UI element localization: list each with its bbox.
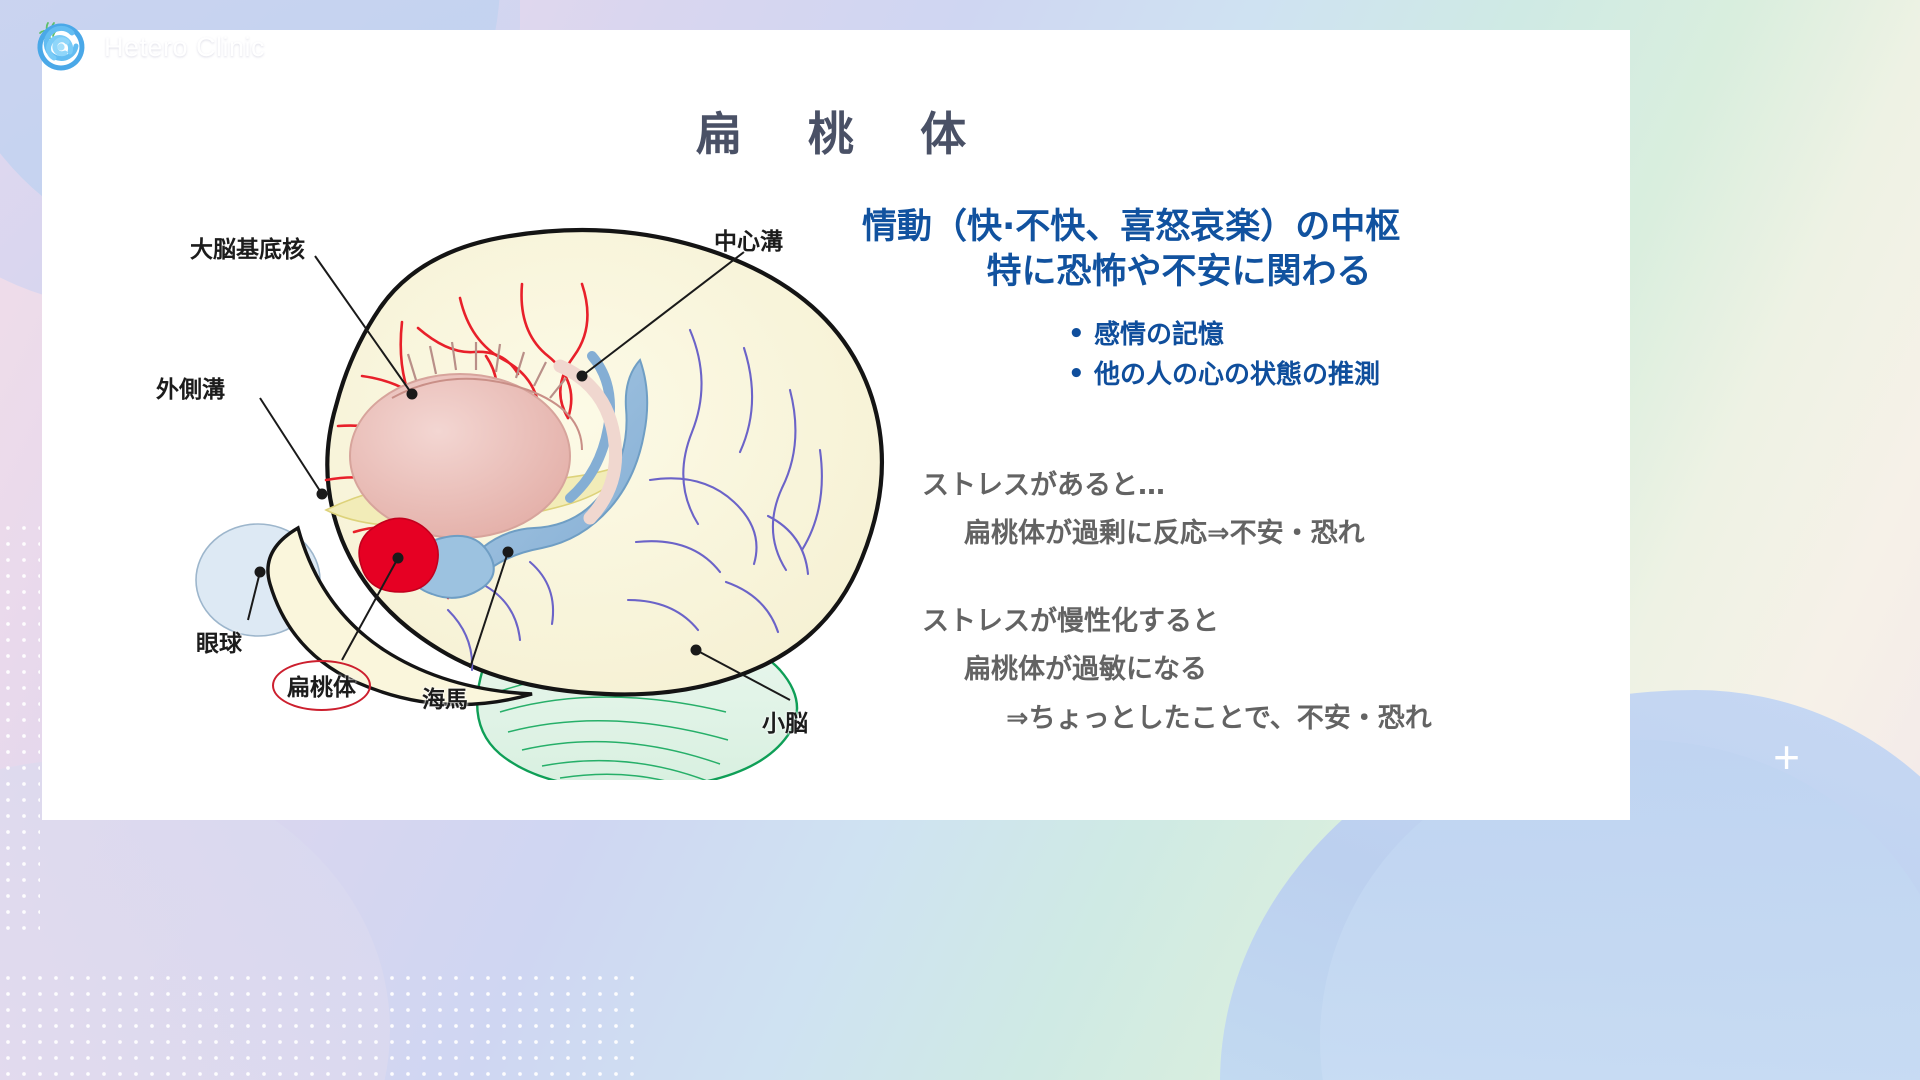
heading-line-2: 特に恐怖や不安に関わる [862,250,1582,295]
diagram-label-hippocampus: 海馬 [422,680,468,714]
spiral-leaf-logo-icon [34,20,88,74]
brand-name: Hetero Clinic [104,32,265,63]
slide-card: 扁 桃 体 [42,30,1630,820]
list-item: 感情の記憶 [1068,315,1582,355]
bottom-dot-pattern [0,970,640,1080]
diagram-label-amygdala: 扁桃体 [272,660,371,711]
diagram-label-lateral-sulcus: 外側溝 [156,370,225,404]
heading-line-1: 情動（快·不快、喜怒哀楽）の中枢 [862,205,1582,250]
page-title: 扁 桃 体 [42,98,1630,164]
left-dot-pattern [0,520,40,940]
diagram-label-cerebellum: 小脳 [762,704,808,738]
stress-chronic-line-1: ストレスが慢性化すると [922,603,1432,641]
diagram-label-central-sulcus: 中心溝 [714,222,783,256]
brand-logo-area[interactable]: Hetero Clinic [34,20,265,74]
stress-acute-block: ストレスがあると… 扁桃体が過剰に反応⇒不安・恐れ [922,467,1365,554]
brain-illustration-svg [130,180,910,780]
diagram-label-basal-ganglia: 大脳基底核 [190,230,305,264]
stress-acute-line-2: 扁桃体が過剰に反応⇒不安・恐れ [922,515,1365,553]
stress-chronic-line-3: ⇒ちょっとしたことで、不安・恐れ [922,700,1432,738]
diagram-label-eyeball: 眼球 [196,624,242,658]
plus-mark-decoration: + [1773,734,1800,780]
content-column: 情動（快·不快、喜怒哀楽）の中枢 特に恐怖や不安に関わる 感情の記憶 他の人の心… [862,205,1582,805]
stress-chronic-line-2: 扁桃体が過敏になる [922,651,1432,689]
function-bullet-list: 感情の記憶 他の人の心の状態の推測 [862,315,1582,396]
list-item: 他の人の心の状態の推測 [1068,355,1582,395]
brain-diagram: 大脳基底核 外側溝 中心溝 眼球 扁桃体 海馬 小脳 [130,180,910,780]
main-heading: 情動（快·不快、喜怒哀楽）の中枢 特に恐怖や不安に関わる [862,205,1582,295]
stress-chronic-block: ストレスが慢性化すると 扁桃体が過敏になる ⇒ちょっとしたことで、不安・恐れ [922,603,1432,738]
stress-acute-line-1: ストレスがあると… [922,467,1365,505]
